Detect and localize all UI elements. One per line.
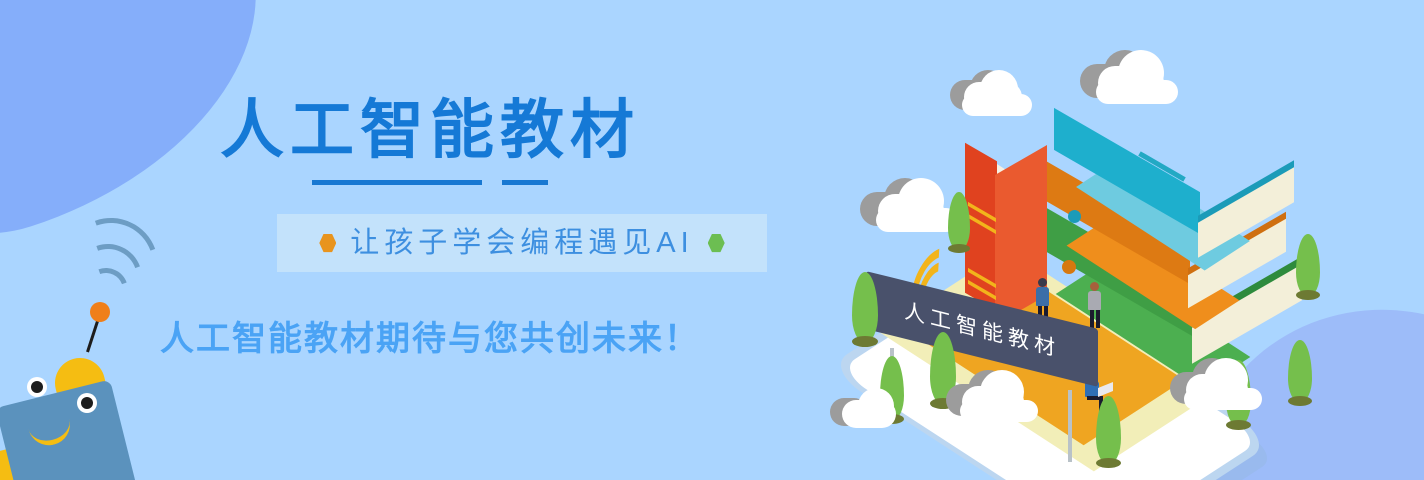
page-title: 人工智能教材	[0, 98, 860, 162]
subtitle-band: 让孩子学会编程遇见AI	[277, 214, 767, 272]
divider-short	[502, 180, 548, 185]
subtitle-text: 让孩子学会编程遇见AI	[350, 229, 693, 258]
robot-antenna	[86, 317, 100, 352]
title-divider	[0, 180, 860, 185]
robot-eye-left	[27, 377, 47, 397]
signboard-leg-right	[1068, 390, 1072, 462]
divider-long	[312, 180, 482, 185]
robot-eye-right	[77, 393, 97, 413]
robot-antenna-ball	[90, 302, 110, 322]
robot-mascot	[0, 230, 200, 480]
ai-textbook-banner: 人工智能教材 让孩子学会编程遇见AI 人工智能教材期待与您共创未来！	[0, 0, 1424, 480]
hexagon-bullet-right-icon	[708, 234, 725, 253]
isometric-illustration: 人工智能教材	[840, 60, 1424, 480]
hexagon-bullet-left-icon	[319, 234, 336, 253]
